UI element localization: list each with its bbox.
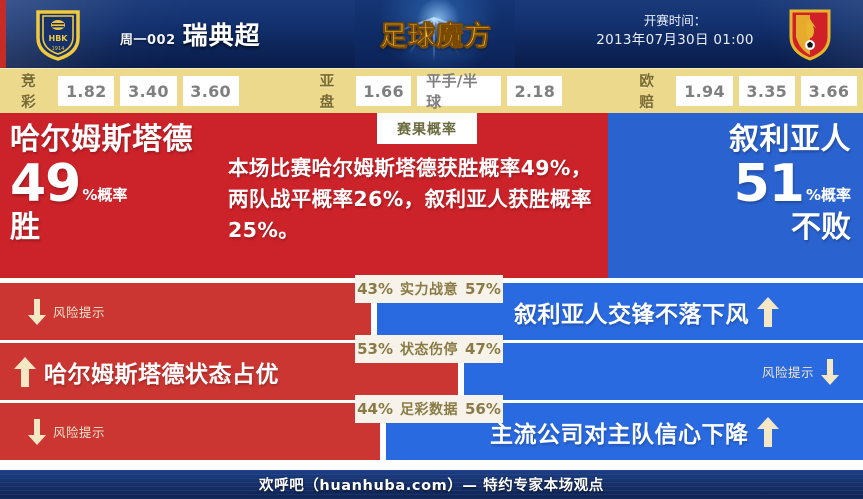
comparison-row-betting: 44% 足彩数据 56% 风险提示 主流公司对主队信心下降 (0, 403, 863, 460)
away-probability-value: 51 (734, 158, 804, 210)
odds-label-jingcai: 竞彩 (21, 70, 50, 112)
odds-group-asian: 亚盘 1.66 平手/半球 2.18 (320, 70, 569, 112)
comparison-tag-form: 53% 状态伤停 47% (355, 335, 503, 363)
arrow-up-icon (757, 417, 779, 447)
result-probability-tab: 赛果概率 (377, 113, 477, 144)
comparison-verdict-text: 叙利亚人交锋不落下风 (514, 295, 749, 329)
comparison-right-pct: 56% (465, 400, 501, 418)
odds-cell-euro-away[interactable]: 3.66 (801, 76, 857, 106)
comparison-name: 足彩数据 (400, 399, 458, 419)
comparison-name: 状态伤停 (400, 339, 458, 359)
comparison-verdict-left: 哈尔姆斯塔德状态占优 (14, 343, 279, 400)
away-team-crest-icon (782, 6, 838, 62)
home-outcome-label: 胜 (10, 211, 225, 244)
risk-tip-label: 风险提示 (762, 362, 814, 381)
odds-bar: 竞彩 1.82 3.40 3.60 亚盘 1.66 平手/半球 2.18 欧赔 … (0, 68, 863, 113)
footer-bar: 欢呼吧（huanhuba.com）— 特约专家本场观点 (0, 470, 863, 499)
odds-label-euro: 欧赔 (639, 70, 668, 112)
comparison-verdict-right: 叙利亚人交锋不落下风 (514, 283, 779, 340)
risk-tip-label: 风险提示 (53, 422, 105, 441)
home-team-name: 哈尔姆斯塔德 (10, 123, 225, 156)
odds-group-euro: 欧赔 1.94 3.35 3.66 (639, 70, 863, 112)
odds-cell-jingcai-away[interactable]: 3.60 (183, 76, 239, 106)
arrow-down-icon (821, 359, 839, 385)
probability-summary-text: 本场比赛哈尔姆斯塔德获胜概率49%，两队战平概率26%，叙利亚人获胜概率25%。 (228, 153, 608, 245)
away-probability-unit: %概率 (806, 188, 851, 210)
risk-tip-left: 风险提示 (28, 283, 105, 340)
odds-cell-asian-handicap[interactable]: 平手/半球 (417, 76, 501, 106)
home-probability-unit: %概率 (82, 188, 127, 210)
odds-cell-euro-home[interactable]: 1.94 (676, 76, 732, 106)
comparison-right-pct: 47% (465, 340, 501, 358)
brand-logo[interactable]: 足球魔方 (360, 8, 512, 58)
comparison-verdict-text: 主流公司对主队信心下降 (490, 415, 749, 449)
away-outcome-label: 不败 (636, 211, 851, 244)
away-team-name: 叙利亚人 (636, 123, 851, 156)
odds-cell-jingcai-home[interactable]: 1.82 (58, 76, 114, 106)
odds-cell-asian-away[interactable]: 2.18 (507, 76, 562, 106)
footer-text: 欢呼吧（huanhuba.com）— 特约专家本场观点 (259, 474, 604, 495)
comparison-row-strength: 43% 实力战意 57% 风险提示 叙利亚人交锋不落下风 (0, 283, 863, 340)
risk-tip-left: 风险提示 (28, 403, 105, 460)
comparison-name: 实力战意 (400, 279, 458, 299)
odds-cell-jingcai-draw[interactable]: 3.40 (120, 76, 176, 106)
comparison-row-form: 53% 状态伤停 47% 哈尔姆斯塔德状态占优 风险提示 (0, 343, 863, 400)
odds-group-jingcai: 竞彩 1.82 3.40 3.60 (21, 70, 245, 112)
home-team-probability: 哈尔姆斯塔德 49 %概率 胜 (10, 123, 225, 244)
header-bar: HBK 1914 周一002 瑞典超 足球魔方 开赛时间： 2013年07月30… (0, 0, 863, 68)
risk-tip-right: 风险提示 (762, 343, 839, 400)
comparison-tag-strength: 43% 实力战意 57% (355, 275, 503, 303)
match-title: 周一002 瑞典超 (120, 16, 261, 52)
odds-label-asian: 亚盘 (320, 70, 348, 112)
comparison-left-pct: 53% (357, 340, 393, 358)
comparison-left-pct: 44% (357, 400, 393, 418)
match-number: 周一002 (120, 29, 176, 48)
kickoff-info: 开赛时间： 2013年07月30日 01:00 (575, 11, 775, 51)
odds-cell-euro-draw[interactable]: 3.35 (739, 76, 795, 106)
arrow-up-icon (14, 357, 36, 387)
comparison-verdict-text: 哈尔姆斯塔德状态占优 (44, 355, 279, 389)
svg-text:1914: 1914 (52, 46, 65, 52)
kickoff-time: 2013年07月30日 01:00 (575, 30, 775, 51)
comparison-right-pct: 57% (465, 280, 501, 298)
home-probability-value: 49 (10, 158, 80, 210)
odds-cell-asian-home[interactable]: 1.66 (356, 76, 411, 106)
arrow-down-icon (28, 419, 46, 445)
risk-tip-label: 风险提示 (53, 302, 105, 321)
home-team-crest-icon: HBK 1914 (30, 6, 86, 62)
arrow-up-icon (757, 297, 779, 327)
comparison-left-pct: 43% (357, 280, 393, 298)
svg-text:HBK: HBK (49, 34, 69, 43)
header-red-accent (0, 0, 6, 68)
comparison-verdict-right: 主流公司对主队信心下降 (490, 403, 779, 460)
match-preview-infographic: HBK 1914 周一002 瑞典超 足球魔方 开赛时间： 2013年07月30… (0, 0, 863, 499)
comparison-tag-betting: 44% 足彩数据 56% (355, 395, 503, 423)
result-probability-panel: 赛果概率 哈尔姆斯塔德 49 %概率 胜 本场比赛哈尔姆斯塔德获胜概率49%，两… (0, 113, 863, 278)
kickoff-label: 开赛时间： (575, 11, 775, 30)
away-team-probability: 叙利亚人 51 %概率 不败 (636, 123, 851, 244)
league-name: 瑞典超 (183, 16, 261, 52)
arrow-down-icon (28, 299, 46, 325)
